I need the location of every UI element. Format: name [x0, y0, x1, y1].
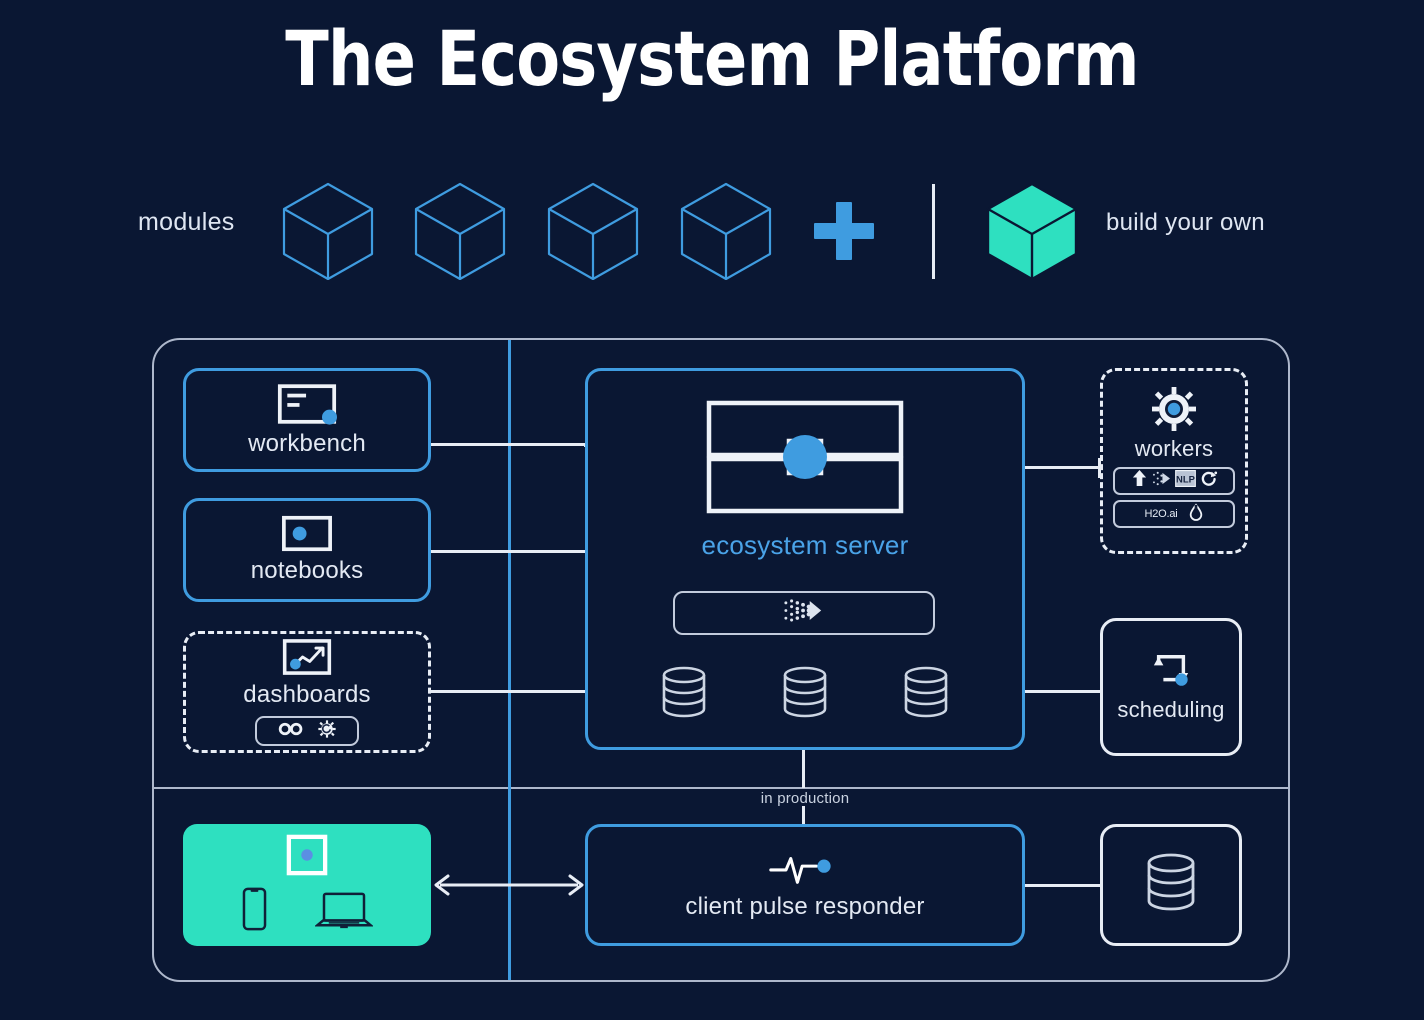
- node-label-client-pulse-responder: client pulse responder: [685, 893, 924, 921]
- tree-arrow-icon: [1131, 469, 1148, 493]
- chart-trend-icon: [282, 638, 332, 681]
- filled-cube-icon: [982, 180, 1082, 280]
- connector-pulse-datastore: [1024, 884, 1102, 887]
- connector-clients-pulse-arrow: [430, 872, 588, 898]
- refresh-icon: [1200, 470, 1218, 493]
- node-workers[interactable]: workers NL: [1100, 368, 1248, 554]
- server-datastore-row: [660, 665, 950, 725]
- connector-server-workers: [1024, 466, 1102, 469]
- cube-icon: [543, 180, 643, 280]
- node-client-pulse-responder[interactable]: client pulse responder: [585, 824, 1025, 946]
- node-client-devices[interactable]: [183, 824, 431, 946]
- connector-workbench-server: [431, 443, 587, 446]
- node-workbench[interactable]: workbench: [183, 368, 431, 472]
- pipeline-pill[interactable]: [673, 591, 935, 635]
- dotted-chevron-icon: [1152, 470, 1171, 492]
- diagram-canvas: The Ecosystem Platform modules: [0, 0, 1424, 1020]
- cube-icon: [676, 180, 776, 280]
- gear-flower-icon: [318, 720, 336, 743]
- node-label-ecosystem-server: ecosystem server: [702, 530, 909, 561]
- screen-icon: [286, 834, 328, 881]
- connector-server-pulse-lower: [802, 806, 805, 826]
- node-label-workers: workers: [1135, 436, 1213, 462]
- connector-notebooks-server: [431, 550, 587, 553]
- server-stack-icon: [705, 399, 905, 520]
- phone-icon: [242, 887, 267, 936]
- page-title: The Ecosystem Platform: [114, 14, 1310, 103]
- frame-horizontal-divider: [152, 787, 1290, 789]
- node-label-scheduling: scheduling: [1117, 697, 1224, 723]
- build-your-own-label: build your own: [1106, 209, 1265, 237]
- node-label-workbench: workbench: [248, 430, 366, 458]
- node-label-notebooks: notebooks: [251, 557, 364, 585]
- pulse-icon: [768, 850, 842, 893]
- water-drop-icon: [1188, 503, 1204, 526]
- database-icon: [660, 665, 708, 726]
- database-icon: [781, 665, 829, 726]
- svg-text:NLP: NLP: [1176, 474, 1195, 485]
- gear-icon: [1152, 387, 1196, 436]
- node-dashboards[interactable]: dashboards: [183, 631, 431, 753]
- laptop-icon: [315, 891, 373, 936]
- cube-icon: [278, 180, 378, 280]
- connector-dashboards-server: [431, 690, 587, 693]
- h2o-label: H2O.ai: [1144, 508, 1177, 520]
- node-notebooks[interactable]: notebooks: [183, 498, 431, 602]
- workbench-window-icon: [277, 383, 337, 430]
- connector-server-scheduling: [1024, 690, 1102, 693]
- workers-badge-pill-h2o[interactable]: H2O.ai: [1113, 500, 1235, 528]
- client-devices-row: [242, 887, 373, 936]
- vertical-divider: [932, 184, 935, 279]
- notebook-window-icon: [281, 515, 333, 557]
- node-scheduling[interactable]: scheduling: [1100, 618, 1242, 756]
- plus-icon: [814, 202, 874, 260]
- dashboards-badge-pill: [255, 716, 359, 746]
- modules-label: modules: [138, 208, 235, 237]
- database-icon: [902, 665, 950, 726]
- connector-server-pulse-upper: [802, 749, 805, 788]
- in-production-label: in production: [585, 790, 1025, 807]
- node-label-dashboards: dashboards: [243, 681, 370, 709]
- nlp-icon: NLP: [1175, 470, 1196, 492]
- workers-badge-pill-engines[interactable]: NLP: [1113, 467, 1235, 495]
- cube-icon: [410, 180, 510, 280]
- dotted-arrow-icon: [783, 597, 825, 629]
- infinity-icon: [278, 722, 304, 741]
- node-production-datastore[interactable]: [1100, 824, 1242, 946]
- loop-refresh-icon: [1150, 652, 1192, 697]
- database-icon: [1144, 852, 1198, 919]
